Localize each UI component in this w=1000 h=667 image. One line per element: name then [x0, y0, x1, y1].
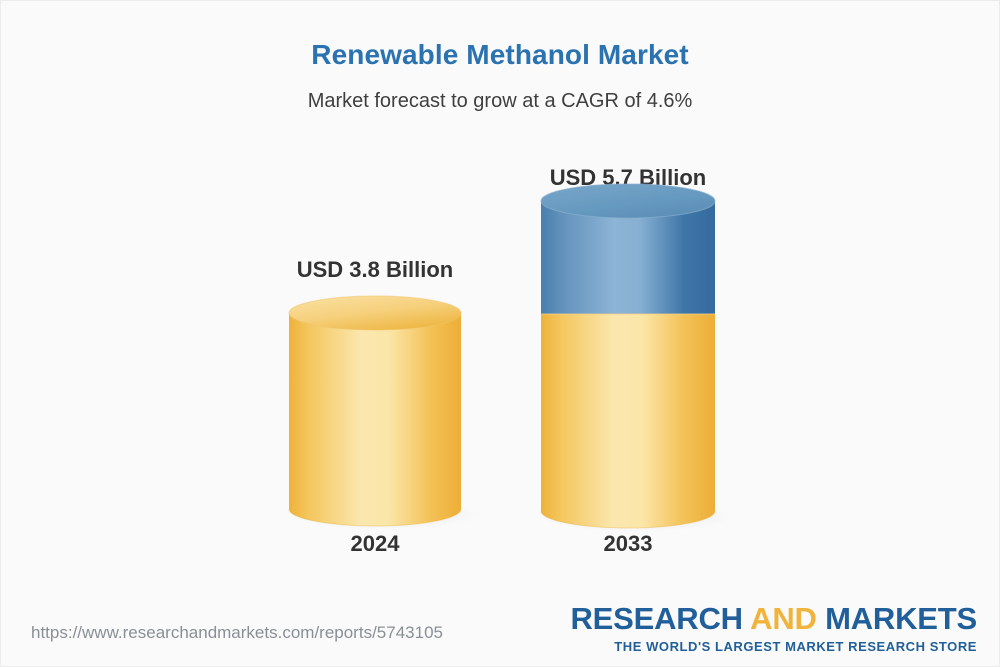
bar-cylinder-2033 [533, 183, 733, 531]
logo-word-markets: MARKETS [825, 601, 977, 636]
value-label-2024: USD 3.8 Billion [289, 257, 461, 283]
logo-word-and: AND [750, 601, 825, 636]
logo-wordmark: RESEARCH AND MARKETS [571, 603, 978, 634]
research-and-markets-logo[interactable]: RESEARCH AND MARKETS THE WORLD'S LARGEST… [571, 603, 978, 654]
category-label-2033: 2033 [541, 531, 715, 557]
logo-word-research: RESEARCH [571, 601, 751, 636]
bar-cylinder-2024 [281, 291, 481, 531]
category-label-2024: 2024 [289, 531, 461, 557]
plot-area: USD 3.8 Billion USD 5.7 Billion [1, 1, 1000, 601]
report-url-link[interactable]: https://www.researchandmarkets.com/repor… [31, 623, 443, 643]
cylinder-body-base [541, 314, 715, 528]
cylinder-body-base [289, 313, 461, 526]
logo-tagline: THE WORLD'S LARGEST MARKET RESEARCH STOR… [571, 639, 978, 654]
chart-canvas: Renewable Methanol Market Market forecas… [0, 0, 1000, 667]
